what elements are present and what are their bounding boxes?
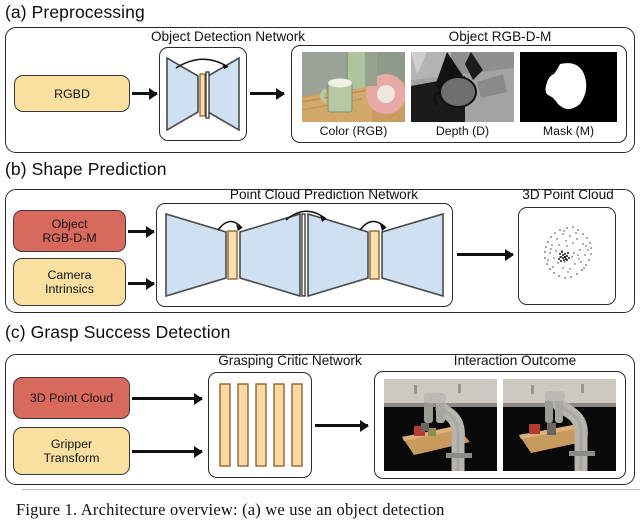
figure-caption: Figure 1. Architecture overview: (a) we … bbox=[16, 500, 445, 520]
group-title-three-d-point-cloud: 3D Point Cloud bbox=[505, 187, 631, 202]
caption-color-rgb: Color (RGB) bbox=[302, 124, 405, 138]
input-pill-gripper-transform[interactable]: Gripper Transform bbox=[13, 427, 130, 475]
group-title-object-detection-network: Object Detection Network bbox=[138, 29, 318, 44]
arrow-object-rgb-d-m-to-network bbox=[128, 230, 154, 233]
arrow-rgbd-to-detection-network bbox=[132, 92, 157, 95]
encoder-decoder-detection-network bbox=[162, 50, 244, 138]
arrow-detection-network-to-outputs bbox=[250, 92, 284, 95]
input-pill-object-rgb-d-m[interactable]: Object RGB-D-M bbox=[13, 210, 126, 252]
image-tile-mask-m bbox=[520, 52, 617, 122]
group-title-grasping-critic-network: Grasping Critic Network bbox=[180, 353, 400, 368]
stacked-hourglass-prediction-network bbox=[160, 206, 450, 304]
panel-label-grasp-success-detection: (c) Grasp Success Detection bbox=[5, 322, 230, 343]
group-title-point-cloud-prediction-network: Point Cloud Prediction Network bbox=[188, 187, 460, 202]
image-tile-depth-d bbox=[411, 52, 514, 122]
mlp-layer-bars bbox=[212, 376, 308, 474]
arrow-network-to-point-cloud bbox=[457, 253, 513, 256]
panel-label-preprocessing: (a) Preprocessing bbox=[5, 2, 145, 23]
arrow-camera-intrinsics-to-network bbox=[128, 282, 154, 285]
point-cloud-visualization bbox=[521, 210, 613, 302]
arrow-point-cloud-to-critic bbox=[132, 397, 202, 400]
input-pill-three-d-point-cloud[interactable]: 3D Point Cloud bbox=[13, 377, 130, 419]
input-pill-rgbd[interactable]: RGBD bbox=[14, 75, 130, 112]
input-pill-camera-intrinsics[interactable]: Camera Intrinsics bbox=[13, 258, 126, 306]
arrow-critic-to-interaction-outcome bbox=[315, 424, 368, 427]
image-tile-grasp-photo-1 bbox=[384, 379, 497, 471]
arrow-gripper-transform-to-critic bbox=[132, 450, 202, 453]
caption-mask-m: Mask (M) bbox=[520, 124, 617, 138]
image-tile-color-rgb bbox=[302, 52, 405, 122]
caption-depth-d: Depth (D) bbox=[411, 124, 514, 138]
panel-label-shape-prediction: (b) Shape Prediction bbox=[5, 159, 167, 180]
group-title-interaction-outcome: Interaction Outcome bbox=[405, 353, 625, 368]
image-tile-grasp-photo-2 bbox=[503, 379, 616, 471]
figure-architecture-overview: (a) Preprocessing Object Detection Netwo… bbox=[0, 0, 640, 518]
caption-divider-rule bbox=[22, 489, 640, 490]
group-title-object-rgb-d-m: Object RGB-D-M bbox=[410, 29, 590, 44]
